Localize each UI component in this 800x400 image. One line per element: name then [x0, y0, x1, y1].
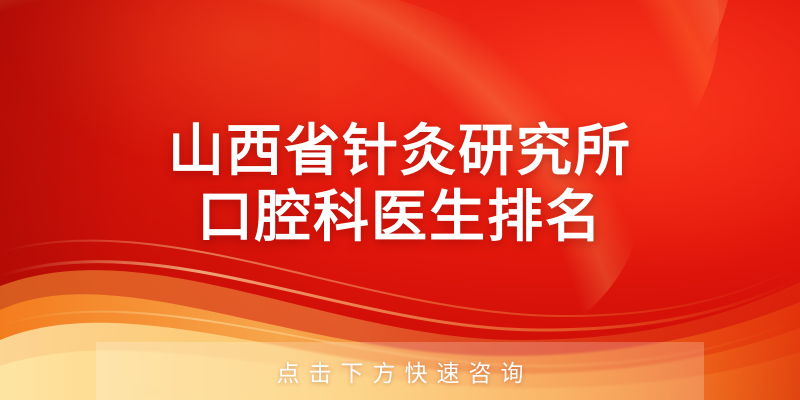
- promo-banner: 山西省针灸研究所 口腔科医生排名 点击下方快速咨询: [0, 0, 800, 400]
- title-line-1: 山西省针灸研究所: [0, 118, 800, 184]
- cta-label: 点击下方快速咨询: [268, 354, 533, 388]
- title-line-2: 口腔科医生排名: [0, 184, 800, 250]
- banner-title: 山西省针灸研究所 口腔科医生排名: [0, 118, 800, 250]
- cta-strip[interactable]: 点击下方快速咨询: [96, 342, 704, 400]
